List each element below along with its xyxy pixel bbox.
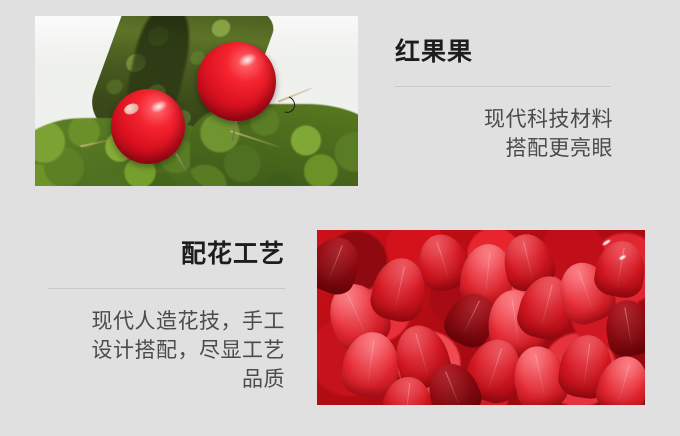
- product-detail-page: 红果果 现代科技材料 搭配更亮眼 配花工艺 现代人造花技，手工 设计搭配，尽显工…: [0, 0, 680, 436]
- red-berry-large: [197, 42, 276, 122]
- craft-divider: [48, 288, 285, 289]
- craft-title: 配花工艺: [48, 242, 285, 267]
- berries-photo: [35, 16, 358, 186]
- berries-title: 红果果: [395, 40, 613, 65]
- berries-divider: [395, 86, 611, 87]
- red-berry-small: [111, 89, 185, 164]
- craft-text-block: 配花工艺 现代人造花技，手工 设计搭配，尽显工艺 品质: [48, 242, 285, 395]
- petal: [591, 237, 645, 301]
- berry-highlight: [148, 98, 169, 115]
- moss-layer: [35, 16, 358, 186]
- berries-text-block: 红果果 现代科技材料 搭配更亮眼: [395, 40, 613, 164]
- berries-description: 现代科技材料 搭配更亮眼: [395, 106, 613, 164]
- craft-description: 现代人造花技，手工 设计搭配，尽显工艺 品质: [48, 308, 285, 395]
- berry-highlight: [236, 51, 258, 70]
- flowers-photo: [317, 230, 645, 405]
